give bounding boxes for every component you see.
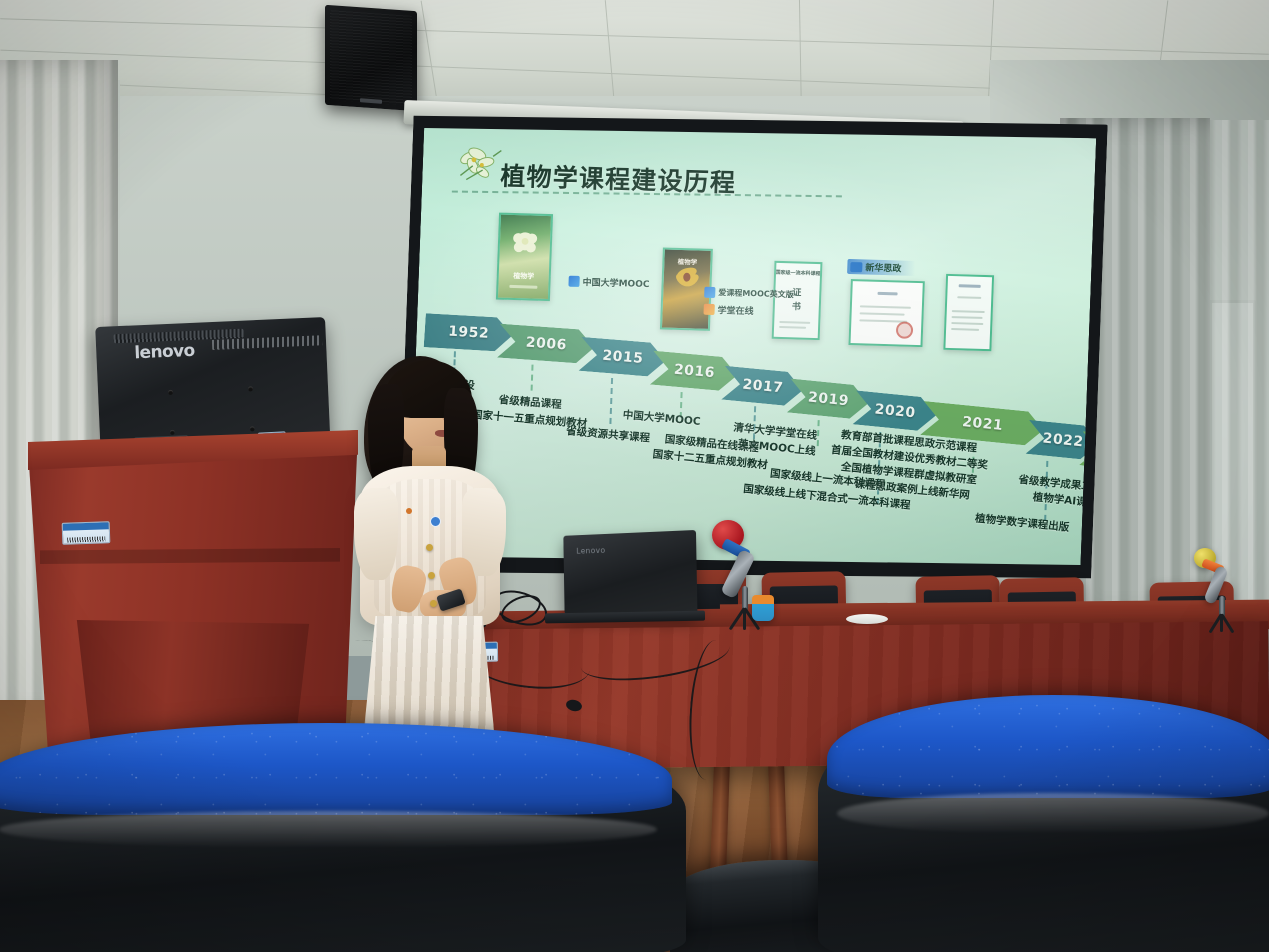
year-label: 2016: [673, 362, 715, 382]
year-label: 1952: [448, 324, 490, 342]
year-label: 2017: [742, 377, 784, 397]
presenter-badge: [430, 516, 441, 527]
year-label: 2019: [807, 389, 849, 409]
laptop-brand-label: Lenovo: [576, 546, 605, 556]
caption-2022-0: 植物学数字课程出版: [958, 510, 1087, 538]
audience-chair-left: [0, 728, 686, 952]
chair-highlight: [837, 793, 1269, 834]
year-label: 2021: [961, 414, 1003, 434]
timeline-year-2015: 2015: [579, 337, 668, 378]
audience-chair-right: [818, 700, 1269, 952]
lecture-hall-photo: 植物学课程建设历程 植物学: [0, 0, 1269, 952]
timeline-year-2016: 2016: [650, 351, 739, 393]
mic-leg: [1220, 614, 1223, 632]
speaker-logo: [360, 98, 382, 104]
year-label: 2006: [525, 335, 567, 354]
timeline-year-2019: 2019: [787, 379, 870, 421]
chair-fabric-back: [0, 723, 672, 815]
presenter: [338, 348, 528, 748]
timeline-year-2020: 2020: [852, 390, 937, 432]
year-label: 2015: [602, 348, 644, 367]
podium-asset-tag: [62, 521, 111, 545]
timeline-year-1952: 1952: [424, 313, 514, 352]
microphone-red[interactable]: [706, 520, 786, 630]
year-label: 2022: [1042, 430, 1084, 450]
monitor-brand-label: lenovo: [134, 341, 195, 364]
podium-trim: [40, 548, 340, 564]
desk-plate: [846, 614, 888, 624]
wall-speaker-left-icon: [325, 5, 417, 111]
desk-cup: [752, 595, 774, 621]
mic-leg: [743, 608, 746, 630]
presenter-laptop[interactable]: Lenovo: [563, 530, 697, 616]
microphone-yellow[interactable]: [1192, 548, 1262, 638]
mic-barrel: [720, 549, 755, 599]
chair-highlight: [0, 811, 657, 848]
chair-fabric-back: [827, 695, 1269, 798]
year-label: 2020: [874, 401, 916, 421]
caption-2016-0: 中国大学MOOC: [607, 407, 716, 432]
presenter-sleeve-left: [354, 488, 398, 580]
presenter-pin: [406, 508, 412, 514]
speaker-grille: [330, 10, 412, 106]
timeline-year-2017: 2017: [721, 366, 804, 408]
